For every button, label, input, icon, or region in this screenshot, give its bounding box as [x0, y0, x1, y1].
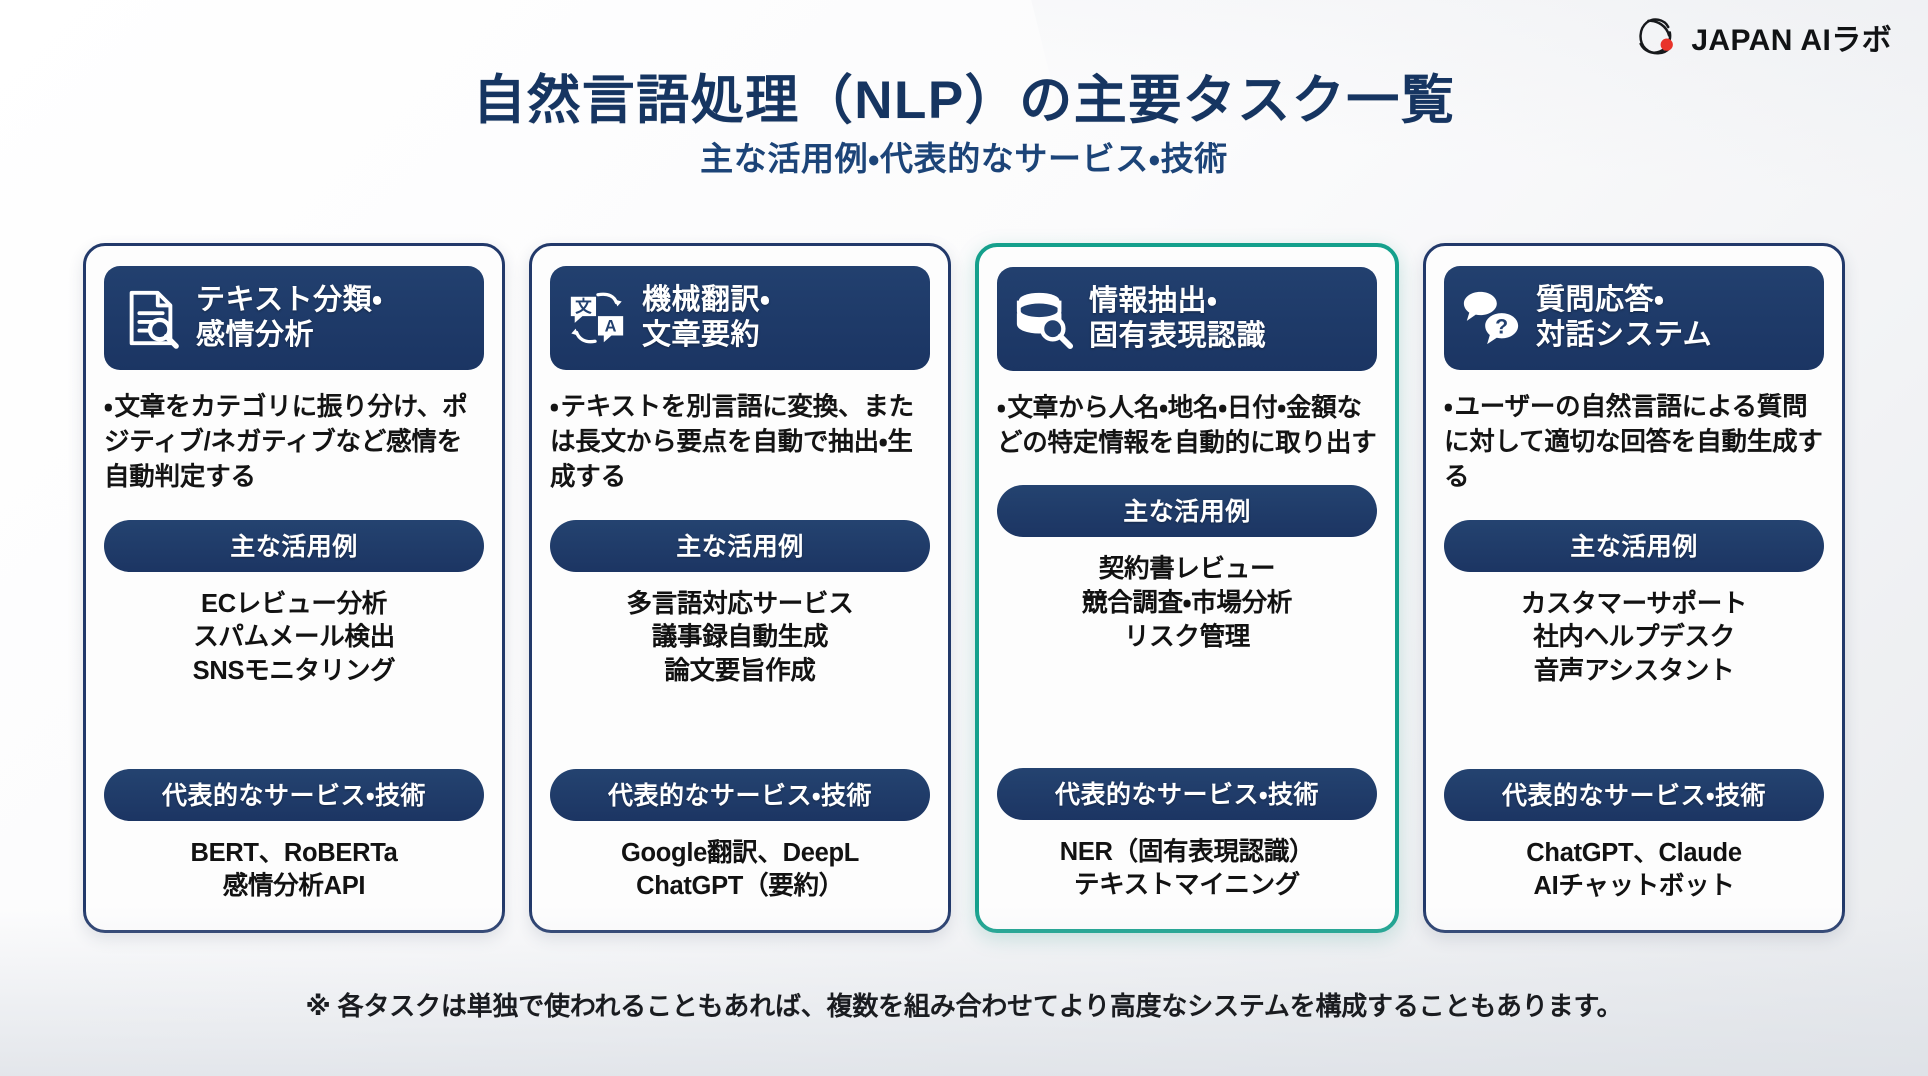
- usecases-list: カスタマーサポート 社内ヘルプデスク 音声アシスタント: [1444, 588, 1824, 689]
- card-header: 文 A 機械翻訳・ 文章要約: [550, 266, 930, 370]
- list-item: 論文要旨作成: [550, 655, 930, 689]
- card-title-line2: 固有表現認識: [1089, 319, 1266, 354]
- card-description-text: ユーザーの自然言語による質問に対して適切な回答を自動生成する: [1444, 393, 1823, 491]
- usecases-block: 主な活用例 カスタマーサポート 社内ヘルプデスク 音声アシスタント: [1444, 496, 1824, 695]
- usecases-list: 契約書レビュー 競合調査・市場分析 リスク管理: [997, 553, 1377, 654]
- list-item: スパムメール検出: [104, 621, 484, 655]
- database-search-icon: [1013, 288, 1075, 350]
- tech-block: 代表的なサービス・技術 ChatGPT、Claude AIチャットボット: [1444, 745, 1824, 904]
- chat-bubbles-question-icon: ?: [1460, 287, 1522, 349]
- list-item: リスク管理: [997, 621, 1377, 655]
- card-header: ? 質問応答・ 対話システム: [1444, 266, 1824, 370]
- circle-swirl-icon: [1633, 14, 1679, 60]
- svg-text:?: ?: [1495, 315, 1508, 339]
- card-title-line1: 機械翻訳・: [642, 283, 770, 318]
- card-description: ・文章から人名・地名・日付・金額などの特定情報を自動的に取り出す: [997, 391, 1377, 461]
- list-item: 競合調査・市場分析: [997, 587, 1377, 621]
- usecases-block: 主な活用例 ECレビュー分析 スパムメール検出 SNSモニタリング: [104, 496, 484, 695]
- bullet-mark: ・: [550, 393, 558, 421]
- tech-list: NER（固有表現認識） テキストマイニング: [997, 836, 1377, 903]
- usecases-label: 主な活用例: [104, 520, 484, 572]
- tech-list: ChatGPT、Claude AIチャットボット: [1444, 837, 1824, 904]
- task-card-question-answering[interactable]: ? 質問応答・ 対話システム ・ユーザーの自然言語による質問に対して適切な回答を…: [1423, 243, 1845, 933]
- usecases-block: 主な活用例 契約書レビュー 競合調査・市場分析 リスク管理: [997, 461, 1377, 660]
- list-item: カスタマーサポート: [1444, 588, 1824, 622]
- list-item: 社内ヘルプデスク: [1444, 621, 1824, 655]
- task-card-information-extraction[interactable]: 情報抽出・ 固有表現認識 ・文章から人名・地名・日付・金額などの特定情報を自動的…: [975, 243, 1399, 933]
- usecases-list: 多言語対応サービス 議事録自動生成 論文要旨作成: [550, 588, 930, 689]
- svg-text:文: 文: [575, 297, 592, 316]
- card-title-line1: 情報抽出・: [1089, 284, 1266, 319]
- list-item: ECレビュー分析: [104, 588, 484, 622]
- card-title: 情報抽出・ 固有表現認識: [1089, 284, 1266, 355]
- list-item: BERT、RoBERTa: [104, 837, 484, 871]
- list-item: AIチャットボット: [1444, 870, 1824, 904]
- footnote: ※ 各タスクは単独で使われることもあれば、複数を組み合わせてより高度なシステムを…: [0, 986, 1928, 1023]
- tech-block: 代表的なサービス・技術 Google翻訳、DeepL ChatGPT（要約）: [550, 745, 930, 904]
- list-item: 多言語対応サービス: [550, 588, 930, 622]
- tech-list: Google翻訳、DeepL ChatGPT（要約）: [550, 837, 930, 904]
- list-item: 契約書レビュー: [997, 553, 1377, 587]
- tech-label: 代表的なサービス・技術: [104, 769, 484, 821]
- card-description: ・文章をカテゴリに振り分け、ポジティブ/ネガティブなど感情を自動判定する: [104, 390, 484, 496]
- card-description-text: テキストを別言語に変換、または長文から要点を自動で抽出・生成する: [550, 393, 914, 491]
- task-card-machine-translation[interactable]: 文 A 機械翻訳・ 文章要約 ・テキストを別言語に変換、または長文から要点を自動…: [529, 243, 951, 933]
- usecases-label: 主な活用例: [550, 520, 930, 572]
- card-description-text: 文章から人名・地名・日付・金額などの特定情報を自動的に取り出す: [997, 394, 1377, 457]
- card-title: テキスト分類・ 感情分析: [196, 283, 383, 354]
- translate-bubbles-icon: 文 A: [566, 287, 628, 349]
- slide-canvas: JAPAN AIラボ 自然言語処理（NLP）の主要タスク一覧 主な活用例・代表的…: [0, 0, 1928, 1076]
- usecases-block: 主な活用例 多言語対応サービス 議事録自動生成 論文要旨作成: [550, 496, 930, 695]
- task-card-grid: テキスト分類・ 感情分析 ・文章をカテゴリに振り分け、ポジティブ/ネガティブなど…: [83, 243, 1845, 933]
- card-description-text: 文章をカテゴリに振り分け、ポジティブ/ネガティブなど感情を自動判定する: [104, 393, 467, 491]
- brand-logo: JAPAN AIラボ: [1633, 14, 1892, 60]
- list-item: SNSモニタリング: [104, 655, 484, 689]
- list-item: テキストマイニング: [997, 869, 1377, 903]
- card-title-line1: 質問応答・: [1536, 283, 1712, 318]
- task-card-text-classification[interactable]: テキスト分類・ 感情分析 ・文章をカテゴリに振り分け、ポジティブ/ネガティブなど…: [83, 243, 505, 933]
- usecases-list: ECレビュー分析 スパムメール検出 SNSモニタリング: [104, 588, 484, 689]
- card-header: 情報抽出・ 固有表現認識: [997, 267, 1377, 371]
- page-subtitle: 主な活用例・代表的なサービス・技術: [0, 132, 1928, 180]
- card-title-line2: 文章要約: [642, 318, 770, 353]
- tech-label: 代表的なサービス・技術: [997, 768, 1377, 820]
- bullet-mark: ・: [997, 394, 1005, 422]
- list-item: 議事録自動生成: [550, 621, 930, 655]
- svg-text:A: A: [605, 318, 617, 336]
- list-item: 音声アシスタント: [1444, 655, 1824, 689]
- bullet-mark: ・: [104, 393, 112, 421]
- tech-label: 代表的なサービス・技術: [1444, 769, 1824, 821]
- card-title-line1: テキスト分類・: [196, 283, 383, 318]
- card-description: ・テキストを別言語に変換、または長文から要点を自動で抽出・生成する: [550, 390, 930, 496]
- card-description: ・ユーザーの自然言語による質問に対して適切な回答を自動生成する: [1444, 390, 1824, 496]
- list-item: ChatGPT、Claude: [1444, 837, 1824, 871]
- card-title-line2: 感情分析: [196, 318, 383, 353]
- page-title: 自然言語処理（NLP）の主要タスク一覧: [0, 58, 1928, 134]
- list-item: NER（固有表現認識）: [997, 836, 1377, 870]
- list-item: Google翻訳、DeepL: [550, 837, 930, 871]
- tech-block: 代表的なサービス・技術 BERT、RoBERTa 感情分析API: [104, 745, 484, 904]
- card-title: 質問応答・ 対話システム: [1536, 283, 1712, 354]
- bullet-mark: ・: [1444, 393, 1452, 421]
- tech-block: 代表的なサービス・技術 NER（固有表現認識） テキストマイニング: [997, 744, 1377, 903]
- list-item: ChatGPT（要約）: [550, 870, 930, 904]
- card-title: 機械翻訳・ 文章要約: [642, 283, 770, 354]
- list-item: 感情分析API: [104, 870, 484, 904]
- document-search-icon: [120, 287, 182, 349]
- card-title-line2: 対話システム: [1536, 318, 1712, 353]
- usecases-label: 主な活用例: [997, 485, 1377, 537]
- card-header: テキスト分類・ 感情分析: [104, 266, 484, 370]
- tech-list: BERT、RoBERTa 感情分析API: [104, 837, 484, 904]
- usecases-label: 主な活用例: [1444, 520, 1824, 572]
- brand-name: JAPAN AIラボ: [1691, 15, 1892, 59]
- tech-label: 代表的なサービス・技術: [550, 769, 930, 821]
